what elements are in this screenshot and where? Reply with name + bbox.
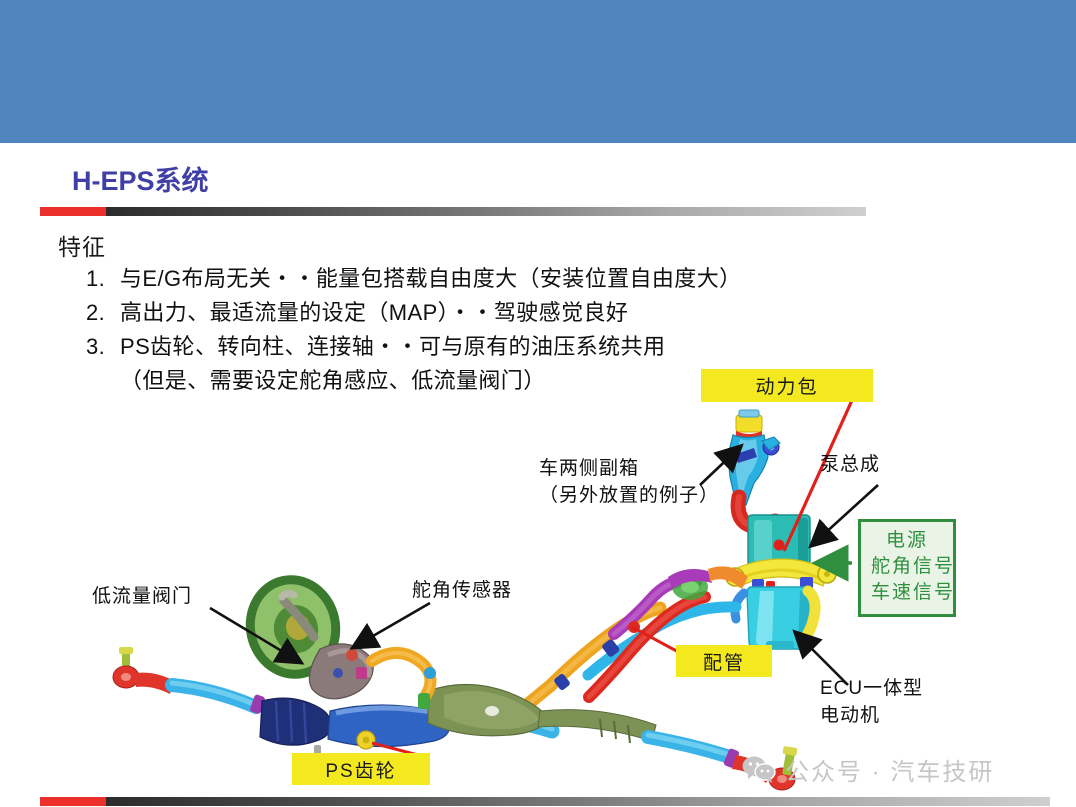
callout-ecu-line2: 电动机	[820, 702, 923, 729]
steering-angle-sensor-part	[309, 644, 373, 699]
callout-signals-line3: 车速信号	[871, 580, 943, 606]
list-item: 1.与E/G布局无关・・能量包搭载自由度大（安装位置自由度大）	[86, 262, 886, 296]
slide-canvas: H-EPS系统 特征 1.与E/G布局无关・・能量包搭载自由度大（安装位置自由度…	[0, 0, 1076, 807]
list-item-label: 与E/G布局无关・・能量包搭载自由度大（安装位置自由度大）	[120, 266, 742, 291]
callout-signals-line1: 电源	[871, 528, 943, 554]
divider-red-segment	[40, 207, 106, 216]
callout-side-tank-line1: 车两侧副箱	[539, 455, 719, 482]
callout-side-tank: 车两侧副箱 （另外放置的例子）	[539, 455, 719, 509]
divider-gradient-segment	[106, 207, 866, 216]
callout-ecu-line1: ECU一体型	[820, 675, 923, 702]
divider-gradient-segment	[106, 797, 1050, 806]
watermark: 公众号 · 汽车技研	[742, 752, 994, 787]
list-item-label: 高出力、最适流量的设定（MAP）・・驾驶感觉良好	[120, 300, 628, 325]
wechat-icon	[742, 756, 776, 783]
callout-pump-assembly: 泵总成	[820, 451, 880, 478]
features-heading: 特征	[58, 228, 106, 262]
callout-signals-line2: 舵角信号	[871, 554, 943, 580]
callout-side-tank-line2: （另外放置的例子）	[539, 482, 719, 509]
divider-red-segment	[40, 797, 106, 806]
top-blue-band	[0, 0, 1076, 143]
watermark-text: 公众号 · 汽车技研	[785, 752, 994, 787]
callout-low-flow-valve: 低流量阀门	[92, 583, 192, 610]
page-title: H-EPS系统	[72, 159, 209, 198]
divider-top	[40, 207, 866, 216]
tie-rod-end-left	[113, 647, 174, 694]
callout-steering-angle-sensor: 舵角传感器	[412, 577, 512, 604]
list-item-number: 2.	[86, 296, 120, 330]
divider-bottom	[40, 797, 1050, 806]
list-item: 2.高出力、最适流量的设定（MAP）・・驾驶感觉良好	[86, 296, 886, 330]
reservoir-assembly	[729, 410, 780, 527]
callout-power-pack: 动力包	[701, 369, 873, 402]
heps-system-diagram: 动力包 车两侧副箱 （另外放置的例子） 泵总成 电源 舵角信号 车速信号 低流量…	[0, 355, 1076, 807]
list-item-number: 1.	[86, 262, 120, 296]
callout-piping: 配管	[676, 645, 772, 677]
callout-ecu-motor: ECU一体型 电动机	[820, 675, 923, 729]
callout-ps-gear: PS齿轮	[292, 753, 430, 785]
callout-signals-box: 电源 舵角信号 车速信号	[858, 519, 956, 617]
